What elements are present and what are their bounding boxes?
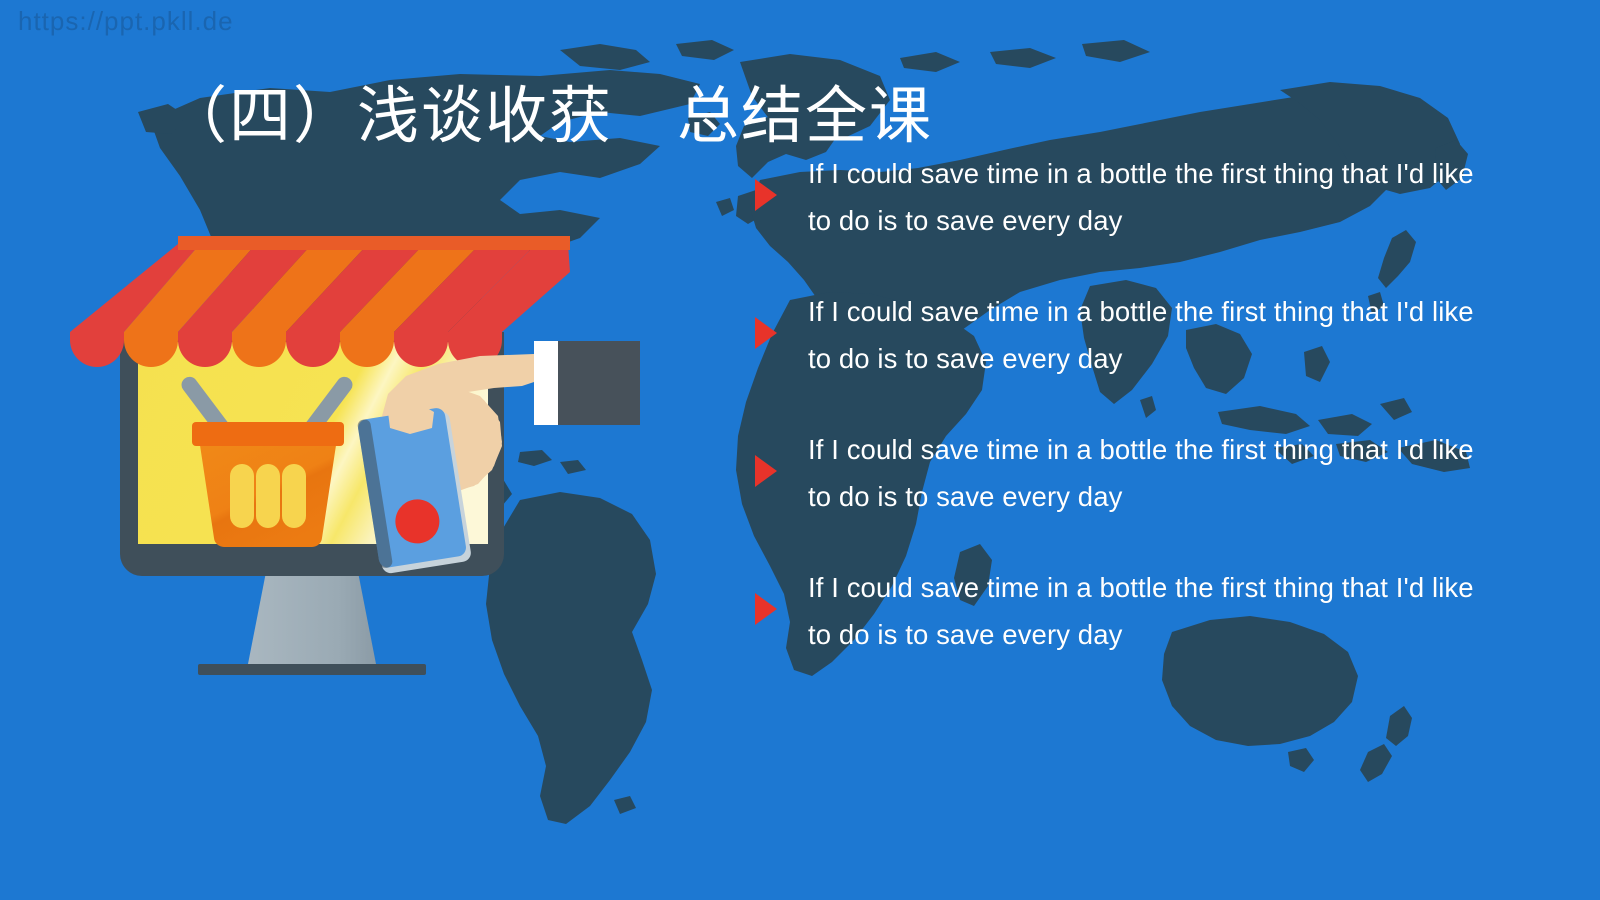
list-item[interactable]: If I could save time in a bottle the fir… [755,564,1475,662]
list-item[interactable]: If I could save time in a bottle the fir… [755,150,1475,248]
monitor-base [198,664,426,675]
shirt-cuff [534,341,558,425]
play-triangle-icon [755,179,777,211]
bullet-list: If I could save time in a bottle the fir… [755,150,1475,662]
list-item-text: If I could save time in a bottle the fir… [808,426,1475,520]
presentation-slide: https://ppt.pkll.de （四）浅谈收获 总结全课 [0,0,1600,900]
list-item-text: If I could save time in a bottle the fir… [808,288,1475,382]
list-item-text: If I could save time in a bottle the fir… [808,150,1475,244]
shopping-basket-icon [192,422,344,547]
list-item[interactable]: If I could save time in a bottle the fir… [755,288,1475,386]
list-item[interactable]: If I could save time in a bottle the fir… [755,426,1475,524]
play-triangle-icon [755,593,777,625]
play-triangle-icon [755,455,777,487]
suit-sleeve [556,341,640,425]
page-title: （四）浅谈收获 总结全课 [165,84,933,149]
play-triangle-icon [755,317,777,349]
shop-awning [70,236,570,367]
monitor-stand [248,572,376,664]
online-shopping-illustration [70,236,640,686]
list-item-text: If I could save time in a bottle the fir… [808,564,1475,658]
site-watermark: https://ppt.pkll.de [18,6,234,37]
